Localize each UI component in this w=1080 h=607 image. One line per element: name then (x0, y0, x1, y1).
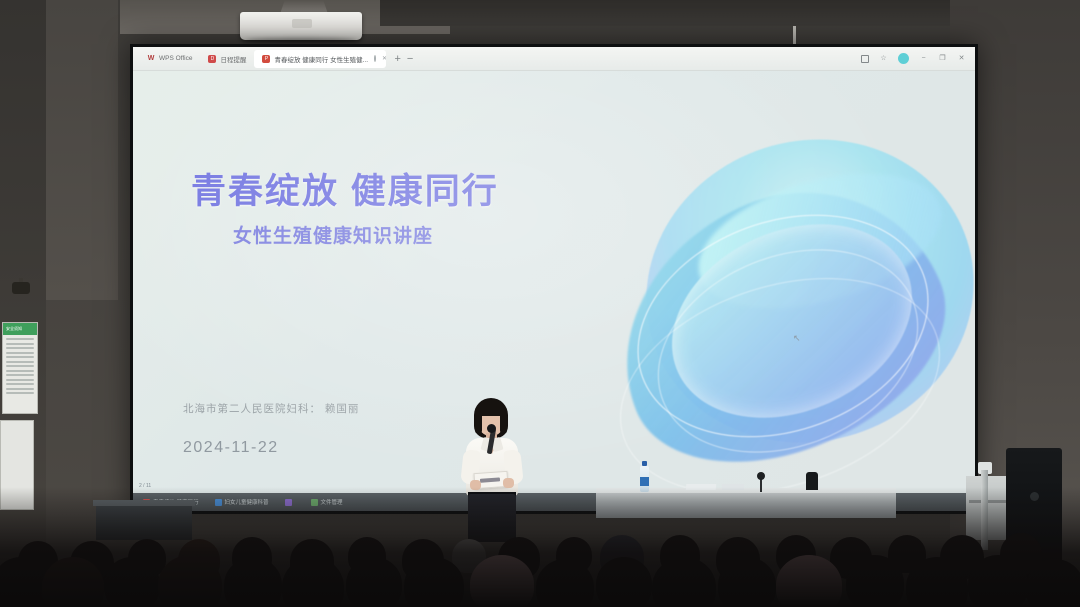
tab-wps-office[interactable]: W WPS Office (139, 50, 200, 68)
avatar[interactable] (898, 53, 909, 64)
slide-title: 青春绽放 健康同行 (191, 163, 499, 214)
wps-logo-icon: W (147, 55, 155, 63)
restore-icon[interactable] (861, 55, 869, 63)
slide-date: 2024-11-22 (183, 439, 279, 457)
star-icon[interactable]: ☆ (879, 54, 888, 63)
tab-label: 日程提醒 (220, 54, 246, 64)
mouse-cursor-icon: ↖ (793, 333, 800, 343)
slide-subtitle: 女性生殖健康知识讲座 (233, 221, 433, 248)
close-icon[interactable]: ✕ (957, 54, 966, 63)
maximize-icon[interactable]: ❐ (938, 54, 947, 63)
slide-presenter-line: 北海市第二人民医院妇科： 赖国丽 (183, 401, 359, 416)
poster-body (3, 335, 37, 400)
tab-status-dot-icon (374, 55, 376, 62)
presentation-icon: P (262, 55, 270, 63)
projected-desktop: W WPS Office D 日程提醒 P 青春绽放 健康同行 女性生殖健...… (133, 47, 975, 511)
new-tab-button[interactable]: + (394, 53, 400, 65)
lecture-hall-scene: 安全须知 W WPS Office D (0, 0, 1080, 607)
ceiling-projector (240, 0, 362, 44)
tab-close-icon[interactable]: ✕ (382, 55, 386, 62)
collapse-tabs-button[interactable]: − (407, 53, 413, 65)
slide-canvas[interactable]: 青春绽放 健康同行 女性生殖健康知识讲座 北海市第二人民医院妇科： 赖国丽 20… (133, 71, 975, 493)
projection-screen: W WPS Office D 日程提醒 P 青春绽放 健康同行 女性生殖健...… (130, 44, 978, 514)
poster-header: 安全须知 (3, 323, 37, 335)
tab-label: WPS Office (159, 55, 192, 62)
wall-poster: 安全须知 (2, 322, 38, 414)
window-controls: ☆ − ❐ ✕ (861, 53, 969, 64)
audience (0, 487, 1080, 607)
app-tab-bar: W WPS Office D 日程提醒 P 青春绽放 健康同行 女性生殖健...… (133, 47, 975, 71)
document-icon: D (208, 55, 216, 63)
tab-presentation[interactable]: P 青春绽放 健康同行 女性生殖健... ✕ (254, 50, 386, 68)
tab-label: 青春绽放 健康同行 女性生殖健... (274, 54, 368, 64)
tab-schedule[interactable]: D 日程提醒 (200, 50, 254, 68)
wall-sensor (8, 278, 34, 298)
projector-lens (292, 19, 312, 28)
minimize-icon[interactable]: − (919, 54, 928, 63)
table-microphone (757, 472, 765, 480)
slide-decorative-graphic (575, 111, 975, 471)
poster-header-label: 安全须知 (6, 326, 22, 332)
